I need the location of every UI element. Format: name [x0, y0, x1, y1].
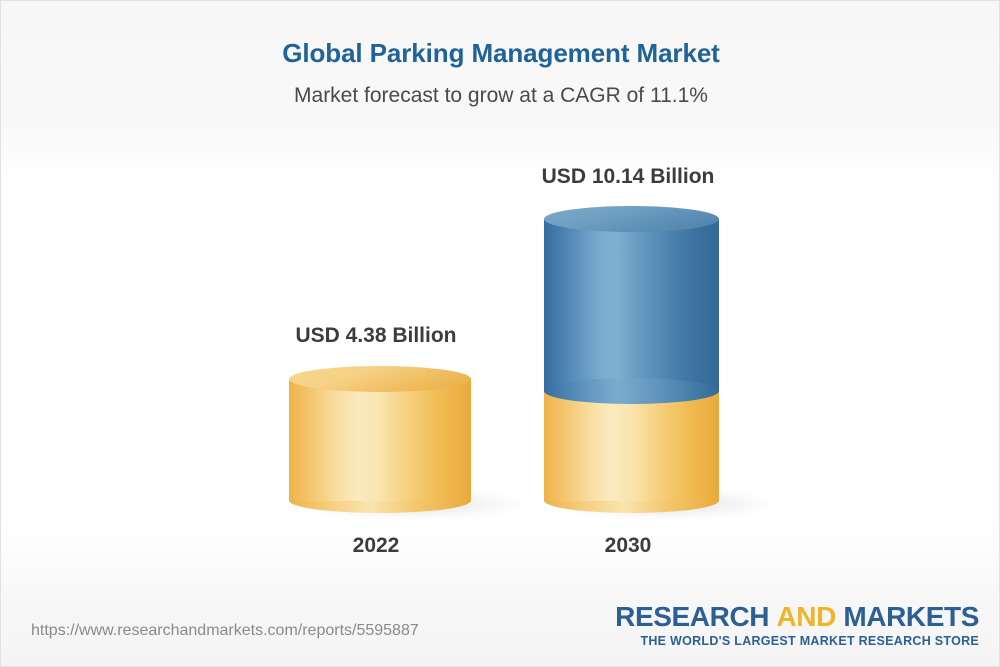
bar-segment-divider-2030 [544, 378, 719, 404]
chart-header: Global Parking Management Market Market … [1, 1, 1000, 109]
page-title: Global Parking Management Market [1, 37, 1000, 70]
bar-cylinder-2030[interactable] [544, 206, 719, 513]
chart-footer: https://www.researchandmarkets.com/repor… [1, 566, 1000, 666]
brand-word-and: AND [776, 601, 835, 632]
bar-segment-growth-2030 [544, 219, 719, 391]
brand-name: RESEARCH AND MARKETS [615, 602, 979, 631]
bar-group-2030: USD 10.14 Billion 2030 [1, 151, 1000, 571]
bar-top-cap-2030 [544, 206, 719, 232]
category-label-2030: 2030 [528, 534, 728, 558]
bar-value-label-2030: USD 10.14 Billion [518, 165, 738, 189]
infographic-canvas: Global Parking Management Market Market … [0, 0, 1000, 667]
brand-logo[interactable]: RESEARCH AND MARKETS THE WORLD'S LARGEST… [615, 602, 979, 648]
chart-plot-area: USD 4.38 Billion 2022 USD 10.14 Billion [1, 151, 1000, 571]
brand-tagline: THE WORLD'S LARGEST MARKET RESEARCH STOR… [615, 634, 979, 648]
brand-word-markets: MARKETS [843, 601, 979, 632]
brand-word-research: RESEARCH [615, 601, 769, 632]
source-url-link[interactable]: https://www.researchandmarkets.com/repor… [31, 622, 419, 640]
chart-subtitle: Market forecast to grow at a CAGR of 11.… [1, 82, 1000, 109]
